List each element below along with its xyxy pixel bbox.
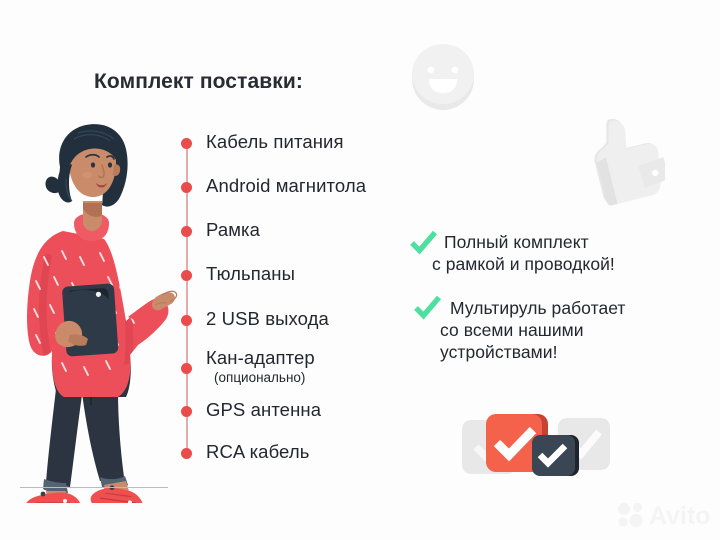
list-item-label: GPS антенна (206, 399, 321, 421)
ground-line (20, 487, 168, 488)
list-item-label: 2 USB выхода (206, 308, 329, 330)
avito-wordmark: Avito (649, 502, 711, 530)
feature-note-line3: устройствами! (440, 341, 557, 363)
list-item-label: Кан-адаптер (206, 347, 315, 369)
bullet-dot-icon (181, 448, 192, 459)
bullet-dot-icon (181, 138, 192, 149)
list-item-label: Android магнитола (206, 175, 366, 197)
bullet-dot-icon (181, 406, 192, 417)
feature-note-line2: с рамкой и проводкой! (432, 253, 615, 275)
feature-note-line2: со всеми нашими (440, 319, 584, 341)
smiley-face-icon (406, 39, 480, 113)
avito-logo-icon: Avito (615, 500, 713, 530)
bullet-dot-icon (181, 315, 192, 326)
supply-kit-list: Кабель питания Android магнитола Рамка Т… (168, 126, 418, 466)
list-item-sublabel: (опционально) (214, 370, 305, 385)
green-check-icon (412, 294, 442, 324)
list-item-label: RCA кабель (206, 441, 309, 463)
page-title: Комплект поставки: (94, 70, 303, 94)
bullet-dot-icon (181, 182, 192, 193)
list-item-label: Рамка (206, 219, 260, 241)
bullet-dot-icon (181, 226, 192, 237)
feature-note-line1: Полный комплект (444, 231, 589, 253)
list-item-label: Кабель питания (206, 131, 344, 153)
poster-canvas: Комплект поставки: Кабель питания Androi… (0, 0, 720, 540)
bullet-dot-icon (181, 270, 192, 281)
checkbox-cards-icon (460, 406, 612, 488)
thumbs-up-icon (575, 110, 665, 210)
bullet-dot-icon (181, 363, 192, 374)
list-item-label: Тюльпаны (206, 263, 295, 285)
woman-pointing-illustration (8, 105, 180, 503)
feature-note-line1: Мультируль работает (450, 297, 626, 319)
